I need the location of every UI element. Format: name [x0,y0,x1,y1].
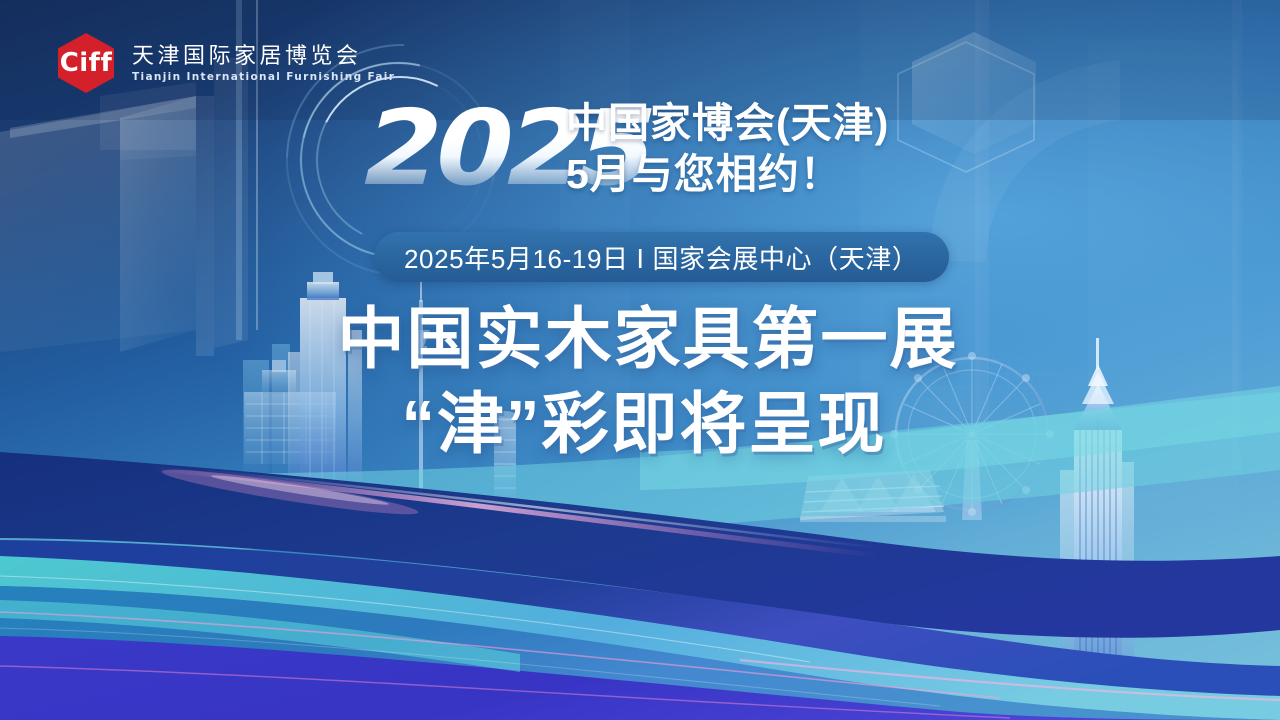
soft-arc-band-icon [930,60,1120,262]
slogan-line-1: 中国实木家具第一展 [322,300,959,379]
ciff-hexagon-logo-icon: Ciff [56,32,116,94]
date-venue-badge: 2025年5月16-19日 Ⅰ 国家会展中心（天津） [374,232,949,282]
headline-line-2: 5月与您相约！ [566,151,889,198]
ciff-logo[interactable]: Ciff 天津国际家居博览会 Tianjin International Fur… [56,32,395,94]
headline-block: 中国家博会(天津) 5月与您相约！ [566,100,889,198]
slogan-line-2: “津”彩即将呈现 [394,385,887,464]
national-convention-center-roof-icon [800,470,946,522]
hexagon-filled-icon [912,32,1036,154]
hexagon-outline-icon [898,42,1034,172]
brand-name-en: Tianjin International Furnishing Fair [132,72,395,83]
slogan-block: 中国实木家具第一展 “津”彩即将呈现 [0,300,1280,464]
brand-name-cn: 天津国际家居博览会 [132,45,395,67]
ciff-wordmark: Ciff [60,50,113,76]
headline-line-1: 中国家博会(天津) [566,100,889,147]
brand-text: 天津国际家居博览会 Tianjin International Furnishi… [132,43,395,83]
pink-glow-streak-icon [160,463,420,521]
date-venue-text: 2025年5月16-19日 Ⅰ 国家会展中心（天津） [404,239,919,276]
promo-banner: Ciff 天津国际家居博览会 Tianjin International Fur… [0,0,1280,720]
